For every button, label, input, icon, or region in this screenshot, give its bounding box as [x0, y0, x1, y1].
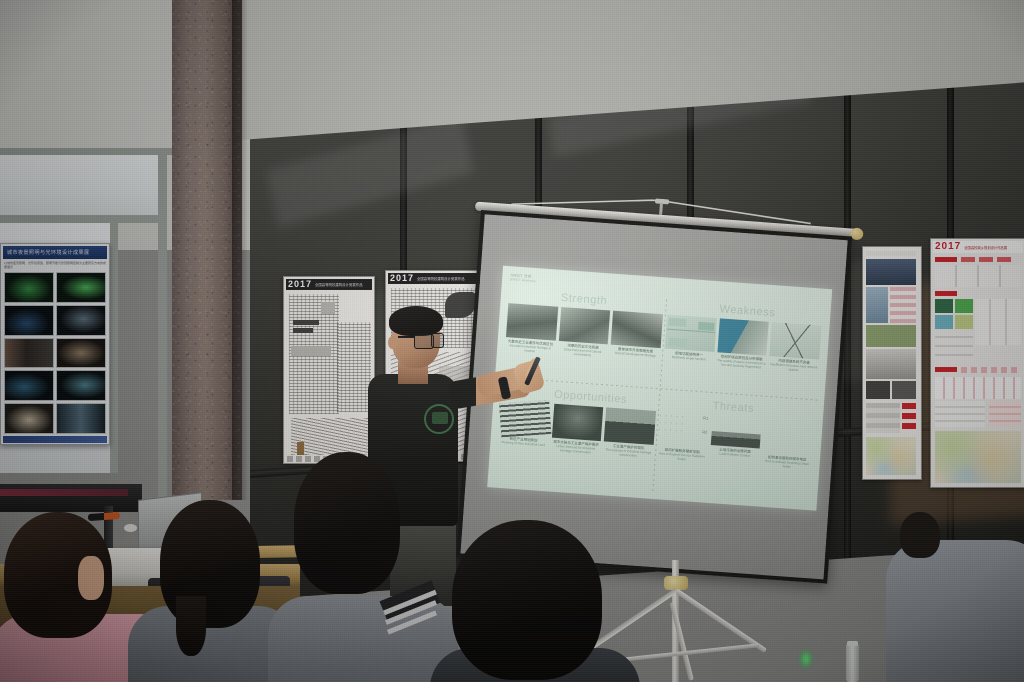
poster-2017-color: 2017 全国高校城乡规划设计作品展 — [930, 238, 1024, 488]
item-caption-en: Land Pollution Control — [719, 453, 750, 459]
glasses-lens-right-icon — [431, 333, 444, 348]
presenter-hair — [389, 306, 443, 336]
item-caption-en: The upsurge of industrial heritage conse… — [603, 449, 653, 460]
lecture-hall-photo: 城市夜景照明与光环境设计成果展 以城市夜景照明、光环境营造、照明节能与智慧照明控… — [0, 0, 1024, 682]
item-caption-en: Deep historical and cultural connotation… — [557, 348, 607, 359]
item-diagram — [665, 315, 717, 352]
item-thumbnail — [559, 307, 611, 344]
poster-subtitle: 以城市夜景照明、光环境营造、照明节能与智慧照明控制为主要研究方向的成果展示 — [4, 261, 106, 270]
item-thumbnail — [770, 322, 822, 359]
computer-mouse — [124, 524, 137, 532]
swot-quadrant-opportunities: Opportunities 新区产业用地规划 Planning of New I… — [494, 383, 660, 491]
item-caption-en: Overall Development Strategy — [614, 352, 655, 359]
item-thumbnail — [717, 318, 769, 355]
poster-header: 2017 全国高等院校建筑设计竞赛作品 — [388, 273, 480, 284]
item-thumbnail — [611, 311, 663, 348]
window-mullion-2 — [110, 223, 118, 473]
column-shadow — [232, 0, 248, 500]
poster-year: 2017 — [935, 242, 961, 252]
item-thumbnail — [506, 303, 558, 340]
console-red-trim — [0, 489, 128, 496]
quadrant-title: Threats — [712, 400, 754, 415]
poster-thumb — [4, 272, 54, 303]
slide-header: SWOT 分析 SWOT Analysis — [510, 273, 537, 283]
swot-item: 新区产业用地规划 Planning of New Industrial Land — [496, 400, 551, 481]
item-caption-en: Relatively single function — [672, 356, 706, 362]
bottle-cap — [847, 641, 858, 646]
item-thumbnail — [604, 407, 656, 444]
poster-title: 全国高等院校建筑设计竞赛作品 — [315, 282, 362, 287]
item-caption-en: Insufficient intra-area road network sys… — [769, 363, 819, 374]
swot-item: 空间环境品质低且分布零散 The quality of space enviro… — [714, 318, 769, 399]
quadrant-items: 新区产业用地规划 Planning of New Industrial Land… — [496, 400, 656, 489]
swot-item: 土地污染的治理问题 Land Pollution Control — [707, 415, 762, 496]
poster-thumb — [56, 305, 106, 336]
item-caption-en: Planning of New Industrial Land — [501, 441, 545, 448]
swot-item: 深厚的历史文化底蕴 Deep historical and cultural c… — [555, 307, 610, 388]
item-caption-en: Urban Demand for Industrial Heritage Con… — [551, 445, 601, 456]
swot-item: 城市文脉与工业遗产保护需求 Urban Demand for Industria… — [548, 404, 603, 485]
swot-quadrant-threats: Threats ↑ ↑ ↑ ↑ ↑ ↑ ↑ ↑ ↑ ↑ ↑ ↑ ↑ ↑ ↑ R1… — [652, 394, 818, 502]
poster-title: 全国高等院校建筑设计竞赛作品 — [417, 276, 464, 281]
poster-thumb — [56, 272, 106, 303]
poster-thumb — [56, 338, 106, 369]
exit-sign-glow — [798, 648, 814, 670]
poster-title: 全国高校城乡规划设计作品展 — [964, 245, 1007, 250]
swot-item: 如何激活衰败的城市地区 How to Activate Declining Ur… — [760, 419, 815, 500]
poster-urban-left — [862, 246, 922, 480]
poster-header: 2017 全国高等院校建筑设计竞赛作品 — [286, 279, 372, 290]
quadrant-items: ↑ ↑ ↑ ↑ ↑ ↑ ↑ ↑ ↑ ↑ ↑ ↑ ↑ ↑ ↑ R1 R2 如何扩展… — [654, 411, 814, 500]
swot-item: ↑ ↑ ↑ ↑ ↑ ↑ ↑ ↑ ↑ ↑ ↑ ↑ ↑ ↑ ↑ R1 R2 如何扩展… — [654, 411, 709, 492]
screen-tripod-hub — [664, 576, 688, 590]
poster-image-grid — [4, 272, 106, 434]
poster-thumb — [4, 370, 54, 401]
quadrant-title: Opportunities — [554, 389, 628, 406]
poster-banner-text: 城市夜景照明与光环境设计成果展 — [7, 249, 103, 260]
poster-thumb — [56, 370, 106, 401]
poster-thumb — [56, 403, 106, 434]
handheld-microphone — [88, 512, 120, 521]
item-diagram: ↑ ↑ ↑ ↑ ↑ ↑ ↑ ↑ ↑ ↑ ↑ ↑ ↑ ↑ ↑ R1 R2 — [658, 411, 710, 448]
quadrant-title: Strength — [561, 292, 608, 307]
window-frame-top — [0, 148, 172, 155]
quadrant-title: Weakness — [719, 303, 776, 319]
item-thumbnail — [552, 404, 604, 441]
window-mullion — [158, 148, 167, 508]
poster-year: 2017 — [288, 280, 312, 289]
poster-banner: 城市夜景照明与光环境设计成果展 — [3, 246, 107, 259]
swot-item: 整体城市开发策略支撑 Overall Development Strategy — [608, 311, 663, 392]
poster-year: 2017 — [390, 274, 414, 283]
diagram-label-r1: R1 — [703, 415, 708, 420]
poster-thumb — [4, 338, 54, 369]
poster-lighting-exhibit: 城市夜景照明与光环境设计成果展 以城市夜景照明、光环境营造、照明节能与智慧照明控… — [0, 243, 110, 445]
item-thumbnail — [499, 400, 551, 437]
presenter-ear — [388, 336, 397, 349]
item-thumbnail — [710, 431, 761, 449]
diagram-label-r2: R2 — [702, 429, 707, 434]
item-caption-en: The quality of space environment is low … — [716, 359, 766, 370]
swot-item: 内部道路系统不完善 Insufficient intra-area road n… — [766, 322, 821, 403]
window-frame-mid — [0, 215, 166, 223]
poster-thumb — [4, 403, 54, 434]
item-caption-en: How to Activate Declining Urban Areas — [762, 460, 812, 471]
water-bottle — [846, 644, 859, 682]
poster-thumb — [4, 305, 54, 336]
slide-header-line2: SWOT Analysis — [510, 278, 536, 284]
item-caption-en: How to Expand Service Radiation Scope — [657, 452, 707, 463]
item-caption-en: Abundant industrial heritage & location — [505, 344, 555, 355]
item-thumbnail — [763, 419, 815, 456]
poster-content — [287, 292, 371, 455]
poster-2017-left: 2017 全国高等院校建筑设计竞赛作品 — [283, 276, 375, 464]
poster-header: 2017 全国高校城乡规划设计作品展 — [933, 241, 1023, 253]
glasses-bridge-icon — [398, 336, 415, 338]
swot-item: 用地功能结构单一 Relatively single function — [661, 315, 716, 396]
swot-item: 工业遗产保护的契机 The upsurge of industrial heri… — [601, 407, 656, 488]
shirt-logo-mark-icon — [432, 412, 448, 424]
window-glass-upper — [0, 155, 158, 217]
poster-footer-band — [3, 436, 107, 443]
